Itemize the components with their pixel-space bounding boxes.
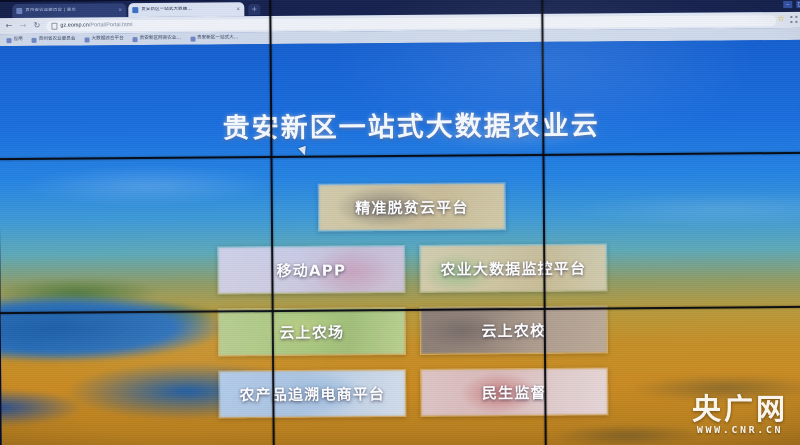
toolbar-right-cluster: ☆ — [776, 15, 800, 23]
page-icon — [132, 7, 138, 13]
tile-label: 民生监督 — [482, 381, 547, 403]
maximize-button[interactable]: □ — [796, 0, 800, 7]
tile-mobile-app[interactable]: 移动APP — [217, 245, 405, 294]
minimize-button[interactable]: – — [783, 0, 792, 7]
tile-row-3: 云上农场 云上农校 — [218, 305, 608, 356]
tile-row-2: 移动APP 农业大数据监控平台 — [217, 243, 607, 294]
bookmark-item-2[interactable]: 大数据综合平台 — [84, 36, 123, 42]
page-icon — [133, 37, 138, 42]
bookmark-label: 贵安新区网商农业… — [140, 36, 181, 42]
tile-label: 农产品追溯电商平台 — [239, 383, 385, 405]
tile-label: 农业大数据监控平台 — [440, 257, 586, 279]
tile-agriculture-big-data-platform[interactable]: 农业大数据监控平台 — [419, 243, 607, 292]
back-icon[interactable]: ← — [4, 22, 13, 30]
tile-row-4: 农产品追溯电商平台 民生监督 — [218, 367, 608, 418]
video-wall: 贵州省农业委员会 | 首页 × 贵安新区一站式大数据… × + – □ ✕ ← — [0, 0, 800, 445]
apps-grid-icon[interactable] — [790, 15, 797, 22]
bookmark-label: 大数据综合平台 — [91, 36, 123, 42]
bookmark-label: 贵安新区一站式大… — [197, 35, 238, 41]
tab-label: 贵州省农业委员会 | 首页 — [25, 8, 76, 14]
browser-tab-1[interactable]: 贵州省农业委员会 | 首页 × — [12, 3, 126, 18]
window-controls: – □ ✕ — [783, 0, 800, 10]
bookmark-item-1[interactable]: 贵州省农业委员会 — [32, 37, 76, 43]
screenshot-root: 贵州省农业委员会 | 首页 × 贵安新区一站式大数据… × + – □ ✕ ← — [0, 0, 800, 445]
tile-label: 精准脱贫云平台 — [355, 196, 469, 218]
close-icon[interactable]: × — [236, 7, 240, 12]
apps-icon — [7, 38, 12, 43]
tile-livelihood-supervision[interactable]: 民生监督 — [420, 367, 608, 416]
tile-cloud-farm[interactable]: 云上农场 — [218, 307, 406, 356]
page-title: 贵安新区一站式大数据农业云 — [0, 102, 800, 147]
bookmark-item-apps[interactable]: 应用 — [7, 37, 23, 43]
tile-precision-poverty-alleviation[interactable]: 精准脱贫云平台 — [318, 182, 506, 231]
bookmark-item-3[interactable]: 贵安新区网商农业… — [133, 36, 181, 42]
forward-icon: → — [18, 22, 27, 30]
address-bar[interactable]: gz.eomp.cn/Portal/Portal.html — [46, 15, 776, 32]
tile-label: 云上农校 — [481, 319, 546, 341]
tab-label: 贵安新区一站式大数据… — [141, 7, 192, 13]
tile-label: 云上农场 — [279, 321, 344, 343]
url-text: gz.eomp.cn/Portal/Portal.html — [60, 22, 132, 30]
page-icon — [16, 8, 22, 14]
close-icon[interactable]: × — [118, 8, 122, 13]
page-icon — [32, 37, 37, 42]
browser-tab-2[interactable]: 贵安新区一站式大数据… × — [128, 2, 244, 17]
bookmark-label: 贵州省农业委员会 — [39, 37, 76, 43]
bookmark-star-icon[interactable]: ☆ — [776, 15, 785, 23]
bookmark-label: 应用 — [14, 37, 23, 43]
bookmark-item-4[interactable]: 贵安新区一站式大… — [190, 35, 238, 41]
tile-cloud-agricultural-school[interactable]: 云上农校 — [420, 305, 608, 354]
portal-page: 贵安新区一站式大数据农业云 精准脱贫云平台 移动APP — [0, 40, 800, 445]
tile-product-traceability-ecommerce[interactable]: 农产品追溯电商平台 — [218, 369, 406, 418]
portal-tile-grid: 精准脱贫云平台 移动APP 农业大数据监控平台 — [0, 180, 800, 420]
page-icon — [190, 36, 195, 41]
reload-icon[interactable]: ↻ — [32, 22, 41, 30]
page-info-icon[interactable] — [51, 22, 57, 29]
tile-row-1: 精准脱贫云平台 — [318, 182, 506, 231]
tile-label: 移动APP — [276, 259, 346, 281]
cloud-icon — [84, 37, 89, 42]
browser-window: 贵州省农业委员会 | 首页 × 贵安新区一站式大数据… × + – □ ✕ ← — [0, 0, 800, 445]
new-tab-button[interactable]: + — [248, 4, 260, 15]
